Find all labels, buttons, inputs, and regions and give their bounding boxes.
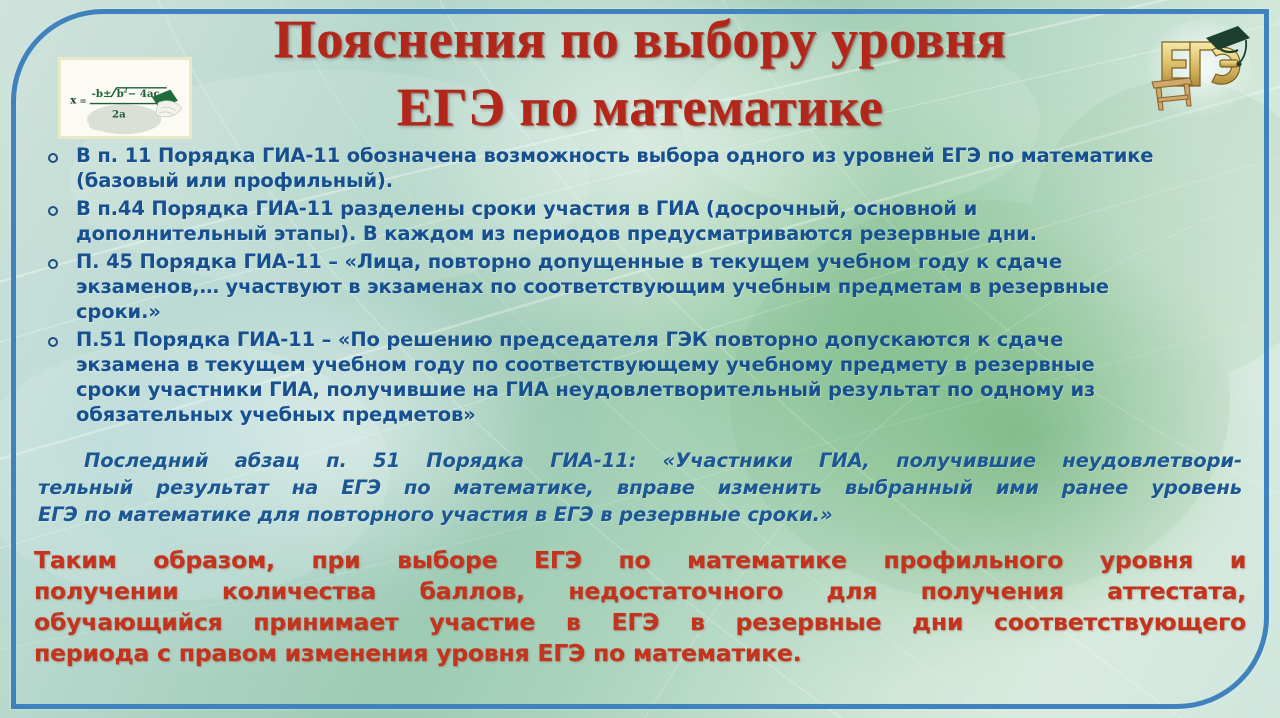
bullet-circle-icon <box>30 143 76 172</box>
list-item-line: сроки участники ГИА, получившие на ГИА н… <box>76 377 1250 402</box>
list-item-line: обязательных учебных предметов» <box>76 402 1250 427</box>
quote-line: Последний абзац п. 51 Порядка ГИА-11: «У… <box>38 447 1242 474</box>
quote-line: тельный результат на ЕГЭ по математике, … <box>38 474 1242 501</box>
list-item-line: экзаменов,… участвуют в экзаменах по соо… <box>76 274 1250 299</box>
quote-line-text: тельный результат на ЕГЭ по математике, … <box>38 476 1242 499</box>
list-item-line: В п. 11 Порядка ГИА-11 обозначена возмож… <box>76 143 1250 168</box>
list-item-text: В п.44 Порядка ГИА-11 разделены сроки уч… <box>76 196 1250 246</box>
list-item: В п.44 Порядка ГИА-11 разделены сроки уч… <box>30 196 1250 246</box>
bullet-list: В п. 11 Порядка ГИА-11 обозначена возмож… <box>30 143 1250 430</box>
title-line-2: ЕГЭ по математике <box>0 76 1280 138</box>
quote-line-text: Последний абзац п. 51 Порядка ГИА-11: «У… <box>84 449 1242 472</box>
bullet-circle-icon <box>30 249 76 278</box>
conclusion-line: получении количества баллов, недостаточн… <box>34 576 1246 607</box>
bullet-circle-icon <box>30 327 76 356</box>
title-line-1: Пояснения по выбору уровня <box>0 8 1280 70</box>
list-item: П. 45 Порядка ГИА-11 – «Лица, повторно д… <box>30 249 1250 324</box>
list-item-line: (базовый или профильный). <box>76 168 1250 193</box>
slide-canvas: x = -b± b 2 − 4ac 2a <box>0 0 1280 718</box>
list-item-text: П.51 Порядка ГИА-11 – «По решению предсе… <box>76 327 1250 427</box>
bullet-circle-icon <box>30 196 76 225</box>
list-item: В п. 11 Порядка ГИА-11 обозначена возмож… <box>30 143 1250 193</box>
quote-line-text: ЕГЭ по математике для повторного участия… <box>38 503 833 526</box>
list-item-line: дополнительный этапы). В каждом из перио… <box>76 221 1250 246</box>
conclusion-line: Таким образом, при выборе ЕГЭ по математ… <box>34 545 1246 576</box>
conclusion-line: обучающийся принимает участие в ЕГЭ в ре… <box>34 607 1246 638</box>
list-item-line: сроки.» <box>76 299 1250 324</box>
list-item-line: П. 45 Порядка ГИА-11 – «Лица, повторно д… <box>76 249 1250 274</box>
page-title: Пояснения по выбору уровня ЕГЭ по матема… <box>0 8 1280 138</box>
list-item-line: экзамена в текущем учебном году по соотв… <box>76 352 1250 377</box>
list-item-text: П. 45 Порядка ГИА-11 – «Лица, повторно д… <box>76 249 1250 324</box>
list-item-text: В п. 11 Порядка ГИА-11 обозначена возмож… <box>76 143 1250 193</box>
list-item: П.51 Порядка ГИА-11 – «По решению предсе… <box>30 327 1250 427</box>
quote-paragraph: Последний абзац п. 51 Порядка ГИА-11: «У… <box>38 447 1242 528</box>
conclusion-line: периода с правом изменения уровня ЕГЭ по… <box>34 638 1246 669</box>
list-item-line: П.51 Порядка ГИА-11 – «По решению предсе… <box>76 327 1250 352</box>
quote-line: ЕГЭ по математике для повторного участия… <box>38 501 1242 528</box>
conclusion-paragraph: Таким образом, при выборе ЕГЭ по математ… <box>34 545 1246 669</box>
list-item-line: В п.44 Порядка ГИА-11 разделены сроки уч… <box>76 196 1250 221</box>
